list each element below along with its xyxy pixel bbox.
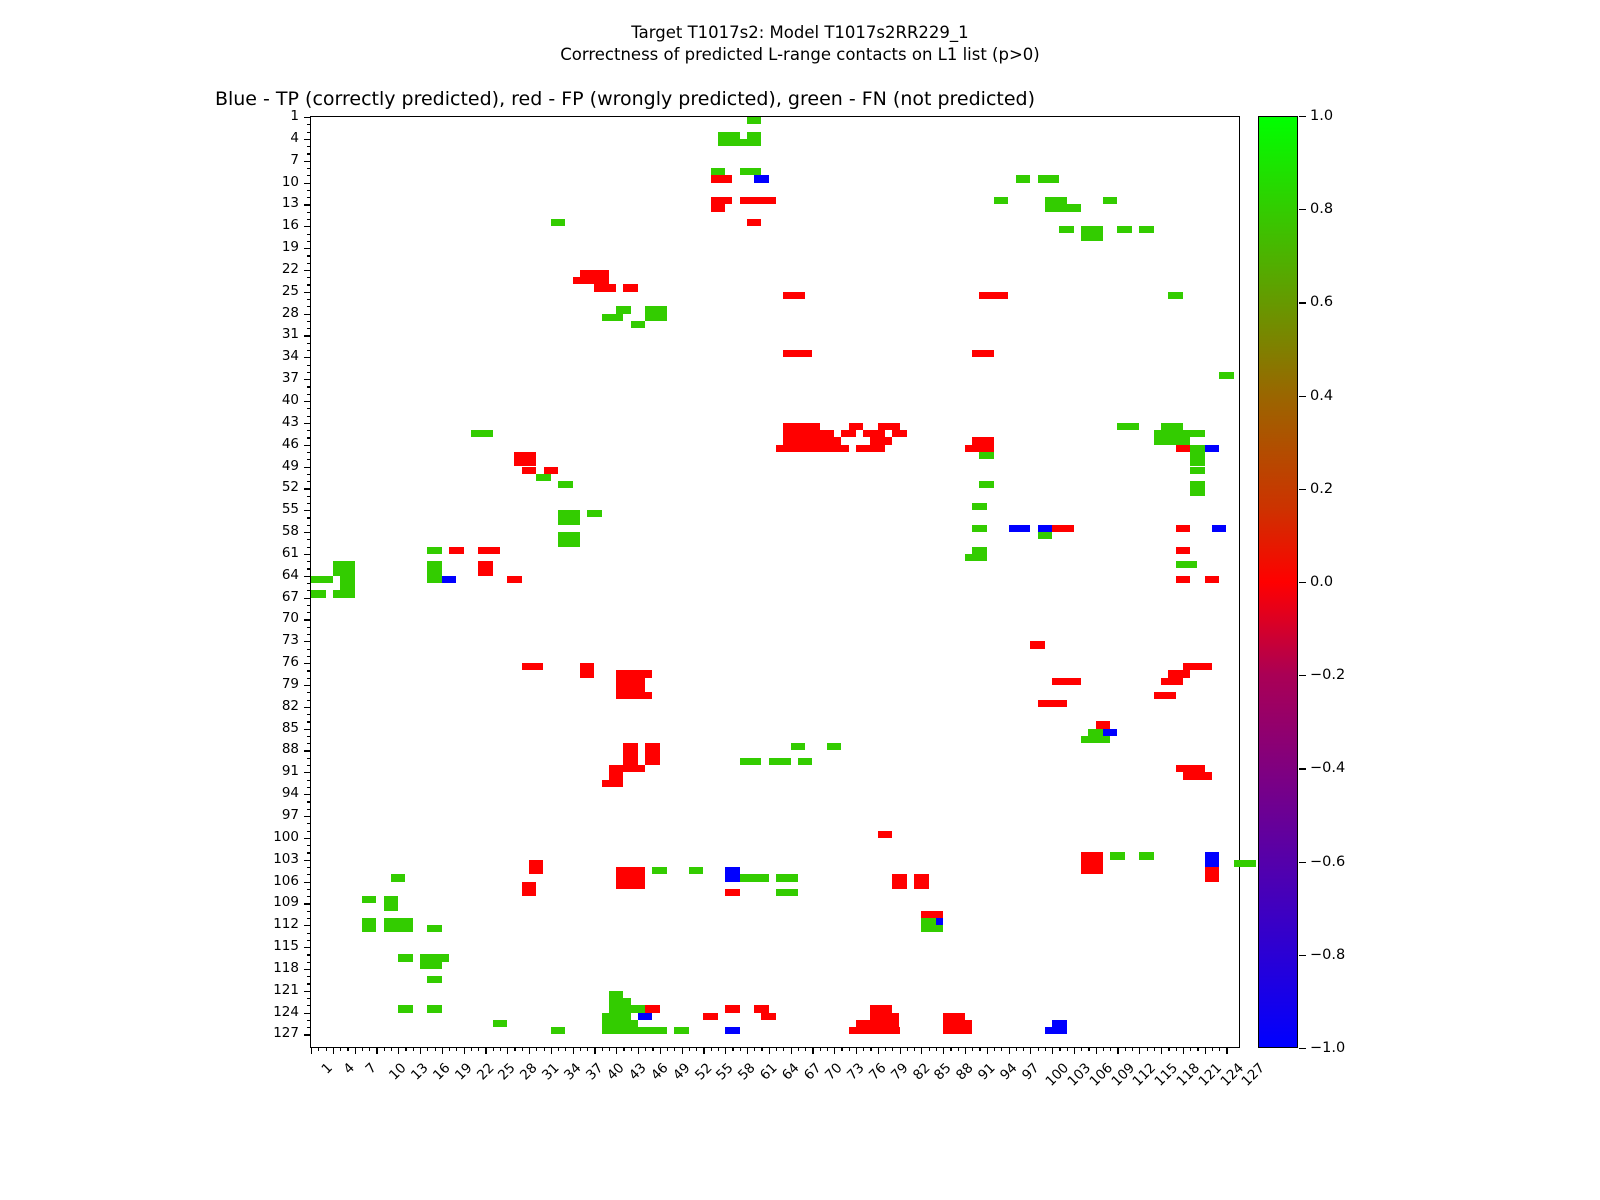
y-tick-minor: [307, 692, 311, 693]
x-axis-label: 73: [844, 1060, 867, 1083]
cell-fn-green: [558, 517, 580, 524]
x-tick-minor: [318, 1047, 319, 1051]
y-tick-minor: [307, 634, 311, 635]
y-tick-major: [304, 532, 311, 533]
x-tick-minor: [631, 1047, 632, 1051]
y-tick-major: [304, 816, 311, 817]
y-axis-label: 4: [0, 130, 299, 146]
cell-fn-green: [609, 991, 624, 998]
x-tick-minor: [1219, 1047, 1220, 1051]
y-tick-major: [304, 357, 311, 358]
cell-fn-green: [1190, 452, 1205, 467]
y-tick-major: [304, 379, 311, 380]
x-tick-minor: [326, 1047, 327, 1051]
x-tick-minor: [623, 1047, 624, 1051]
x-axis-label: 34: [561, 1060, 584, 1083]
cell-fp-red: [623, 758, 638, 765]
y-axis-label: 10: [0, 174, 299, 190]
y-tick-minor: [307, 809, 311, 810]
x-axis-label: 97: [1019, 1060, 1042, 1083]
y-tick-minor: [307, 656, 311, 657]
x-tick-minor: [1154, 1047, 1155, 1051]
x-tick-major: [551, 1047, 552, 1054]
x-axis-label: 43: [626, 1060, 649, 1083]
y-axis-label: 82: [0, 698, 299, 714]
y-tick-minor: [307, 568, 311, 569]
y-tick-major: [304, 335, 311, 336]
cell-fp-red: [914, 874, 929, 889]
y-tick-minor: [307, 146, 311, 147]
cell-fn-green: [558, 510, 580, 517]
cell-fn-green: [362, 918, 377, 933]
cell-fn-green: [427, 561, 442, 576]
cell-fn-green: [536, 474, 551, 481]
y-tick-minor: [307, 787, 311, 788]
x-tick-minor: [1045, 1047, 1046, 1051]
x-tick-major: [529, 1047, 530, 1054]
cell-fp-red: [892, 874, 907, 881]
x-tick-major: [1139, 1047, 1140, 1054]
y-axis-label: 121: [0, 982, 299, 998]
cell-fp-red: [616, 678, 645, 693]
cell-fn-green: [631, 321, 646, 328]
y-tick-minor: [307, 394, 311, 395]
x-axis-label: 7: [362, 1060, 379, 1077]
colorbar-tick-label: 0.8: [1310, 201, 1333, 217]
cell-fn-green: [798, 758, 813, 765]
cell-fp-red: [522, 467, 537, 474]
y-axis-label: 58: [0, 523, 299, 539]
y-tick-major: [304, 991, 311, 992]
y-tick-minor: [307, 627, 311, 628]
x-tick-minor: [1001, 1047, 1002, 1051]
x-tick-minor: [362, 1047, 363, 1051]
cell-fn-green: [1219, 372, 1234, 379]
y-axis-label: 61: [0, 545, 299, 561]
x-tick-major: [1052, 1047, 1053, 1054]
colorbar-tick-label: 1.0: [1310, 108, 1333, 124]
cell-fp-red: [878, 423, 900, 430]
cell-fp-red: [870, 437, 892, 444]
cell-fn-green: [1103, 197, 1118, 204]
y-tick-major: [304, 685, 311, 686]
x-tick-minor: [500, 1047, 501, 1051]
y-axis-label: 7: [0, 152, 299, 168]
x-tick-minor: [369, 1047, 370, 1051]
x-tick-minor: [340, 1047, 341, 1051]
x-axis-label: 88: [953, 1060, 976, 1083]
x-axis-label: 10: [386, 1060, 409, 1083]
y-tick-minor: [307, 168, 311, 169]
y-tick-minor: [307, 896, 311, 897]
x-tick-minor: [1088, 1047, 1089, 1051]
x-tick-minor: [391, 1047, 392, 1051]
cell-fn-green: [979, 481, 994, 488]
y-tick-major: [304, 554, 311, 555]
x-tick-minor: [580, 1047, 581, 1051]
x-tick-major: [834, 1047, 835, 1054]
y-tick-major: [304, 445, 311, 446]
cell-fp-red: [514, 452, 536, 467]
cell-fp-red: [645, 743, 660, 758]
x-tick-minor: [667, 1047, 668, 1051]
colorbar-tick-label: −1.0: [1310, 1040, 1345, 1056]
y-axis-label: 103: [0, 851, 299, 867]
x-tick-minor: [514, 1047, 515, 1051]
y-tick-major: [304, 161, 311, 162]
colorbar-tick: [1299, 1048, 1306, 1049]
x-tick-major: [464, 1047, 465, 1054]
x-tick-major: [900, 1047, 901, 1054]
cell-fp-red: [645, 1005, 660, 1012]
y-axis-label: 28: [0, 305, 299, 321]
cell-fp-red: [1183, 772, 1212, 779]
x-tick-minor: [1023, 1047, 1024, 1051]
x-tick-minor: [1197, 1047, 1198, 1051]
x-tick-minor: [929, 1047, 930, 1051]
x-axis-label: 37: [583, 1060, 606, 1083]
x-axis-label: 40: [604, 1060, 627, 1083]
y-tick-minor: [307, 983, 311, 984]
x-tick-minor: [558, 1047, 559, 1051]
cell-fp-red: [870, 1005, 892, 1012]
x-tick-minor: [1147, 1047, 1148, 1051]
y-axis-label: 76: [0, 654, 299, 670]
cell-fn-green: [602, 1013, 631, 1020]
colorbar-tick: [1299, 768, 1306, 769]
x-tick-minor: [849, 1047, 850, 1051]
cell-fn-green: [1176, 561, 1198, 568]
cell-fn-green: [827, 743, 842, 750]
x-tick-minor: [863, 1047, 864, 1051]
y-tick-major: [304, 838, 311, 839]
cell-tp-blue: [442, 576, 457, 583]
x-tick-major: [943, 1047, 944, 1054]
cell-fn-green: [493, 1020, 508, 1027]
y-tick-minor: [307, 299, 311, 300]
x-tick-minor: [914, 1047, 915, 1051]
cell-fp-red: [645, 758, 660, 765]
y-tick-minor: [307, 474, 311, 475]
y-tick-minor: [307, 590, 311, 591]
y-axis-label: 55: [0, 501, 299, 517]
cell-fp-red: [478, 561, 493, 576]
y-axis-label: 25: [0, 283, 299, 299]
cell-fn-green: [1117, 226, 1132, 233]
y-axis-label: 106: [0, 873, 299, 889]
y-tick-minor: [307, 758, 311, 759]
cell-fn-green: [398, 1005, 413, 1012]
cell-fp-red: [609, 765, 631, 772]
cell-fp-red: [1205, 576, 1220, 583]
y-tick-major: [304, 204, 311, 205]
cell-fn-green: [1045, 197, 1067, 212]
cell-fp-red: [849, 1027, 900, 1034]
colorbar-tick-label: −0.8: [1310, 947, 1345, 963]
colorbar-tick-label: 0.2: [1310, 481, 1333, 497]
x-axis-label: 58: [735, 1060, 758, 1083]
cell-fp-red: [783, 292, 805, 299]
x-tick-major: [573, 1047, 574, 1054]
cell-fp-red: [1038, 700, 1067, 707]
x-tick-minor: [958, 1047, 959, 1051]
cell-fp-red: [1176, 576, 1191, 583]
x-tick-minor: [456, 1047, 457, 1051]
x-tick-major: [747, 1047, 748, 1054]
cell-fp-red: [1052, 525, 1074, 532]
cell-fn-green: [972, 503, 987, 510]
y-tick-minor: [307, 954, 311, 955]
x-tick-major: [333, 1047, 334, 1054]
x-tick-major: [1183, 1047, 1184, 1054]
x-tick-minor: [972, 1047, 973, 1051]
cell-tp-blue: [754, 175, 769, 182]
x-axis-label: 13: [408, 1060, 431, 1083]
cell-fn-green: [609, 998, 631, 1005]
x-tick-minor: [413, 1047, 414, 1051]
contact-map-plot-area: [310, 116, 1240, 1048]
x-axis-label: 46: [648, 1060, 671, 1083]
cell-fp-red: [783, 423, 819, 430]
y-tick-minor: [307, 372, 311, 373]
y-axis-label: 112: [0, 916, 299, 932]
y-tick-minor: [307, 517, 311, 518]
cell-fn-green: [391, 874, 406, 881]
x-tick-minor: [384, 1047, 385, 1051]
y-tick-minor: [307, 714, 311, 715]
x-tick-minor: [732, 1047, 733, 1051]
y-tick-minor: [307, 503, 311, 504]
cell-fp-red: [703, 1013, 718, 1020]
cell-fp-red: [594, 284, 616, 291]
y-tick-minor: [307, 459, 311, 460]
y-axis-label: 124: [0, 1004, 299, 1020]
x-tick-major: [987, 1047, 988, 1054]
cell-fp-red: [573, 277, 609, 284]
x-tick-major: [812, 1047, 813, 1054]
x-tick-major: [682, 1047, 683, 1054]
y-tick-minor: [307, 940, 311, 941]
cell-fn-green: [587, 510, 602, 517]
x-tick-minor: [1125, 1047, 1126, 1051]
x-tick-major: [878, 1047, 879, 1054]
y-tick-major: [304, 860, 311, 861]
cell-tp-blue: [1045, 1027, 1067, 1034]
y-axis-label: 22: [0, 261, 299, 277]
cell-fn-green: [1190, 467, 1205, 474]
y-tick-minor: [307, 583, 311, 584]
cell-fp-red: [783, 437, 841, 444]
y-axis-label: 118: [0, 960, 299, 976]
cell-fn-green: [384, 896, 399, 911]
cell-fp-red: [943, 1013, 965, 1020]
cell-fn-green: [311, 590, 326, 597]
y-tick-major: [304, 903, 311, 904]
y-tick-major: [304, 292, 311, 293]
y-tick-major: [304, 707, 311, 708]
x-tick-major: [660, 1047, 661, 1054]
y-tick-minor: [307, 831, 311, 832]
cell-fp-red: [1176, 445, 1191, 452]
x-tick-major: [769, 1047, 770, 1054]
colorbar-tick: [1299, 582, 1306, 583]
x-tick-major: [791, 1047, 792, 1054]
y-tick-minor: [307, 132, 311, 133]
cell-fp-red: [965, 445, 994, 452]
x-tick-minor: [892, 1047, 893, 1051]
x-tick-minor: [587, 1047, 588, 1051]
x-tick-minor: [994, 1047, 995, 1051]
cell-fn-green: [616, 306, 631, 313]
colorbar-tick-label: −0.2: [1310, 667, 1345, 683]
y-tick-minor: [307, 765, 311, 766]
cell-fp-red: [740, 197, 776, 204]
cell-fp-red: [1183, 663, 1212, 670]
x-tick-minor: [1016, 1047, 1017, 1051]
cell-fn-green: [427, 925, 442, 932]
x-tick-minor: [471, 1047, 472, 1051]
y-axis-label: 64: [0, 567, 299, 583]
y-tick-minor: [307, 649, 311, 650]
cell-fp-red: [849, 423, 864, 430]
cell-fn-green: [740, 758, 762, 765]
y-tick-minor: [307, 845, 311, 846]
y-tick-minor: [307, 321, 311, 322]
contact-map-cells: [311, 117, 1239, 1047]
y-axis-label: 127: [0, 1025, 299, 1041]
x-tick-minor: [841, 1047, 842, 1051]
x-tick-minor: [827, 1047, 828, 1051]
y-axis-label: 115: [0, 938, 299, 954]
y-tick-minor: [307, 255, 311, 256]
x-tick-minor: [1067, 1047, 1068, 1051]
y-tick-minor: [307, 365, 311, 366]
cell-tp-blue: [725, 874, 740, 881]
x-axis-label: 91: [975, 1060, 998, 1083]
cell-fn-green: [420, 954, 449, 961]
cell-fp-red: [1176, 547, 1191, 554]
cell-tp-blue: [1205, 860, 1220, 867]
y-axis-label: 46: [0, 436, 299, 452]
x-tick-minor: [536, 1047, 537, 1051]
x-tick-major: [965, 1047, 966, 1054]
cell-tp-blue: [725, 1027, 740, 1034]
x-tick-minor: [718, 1047, 719, 1051]
cell-fn-green: [427, 576, 442, 583]
cell-fp-red: [616, 867, 645, 874]
chart-title-line1: Target T1017s2: Model T1017s2RR229_1: [0, 22, 1600, 44]
x-tick-minor: [820, 1047, 821, 1051]
x-tick-minor: [689, 1047, 690, 1051]
y-tick-minor: [307, 721, 311, 722]
y-tick-major: [304, 576, 311, 577]
cell-fn-green: [602, 1027, 646, 1034]
x-tick-minor: [674, 1047, 675, 1051]
cell-fp-red: [711, 175, 733, 182]
x-tick-minor: [565, 1047, 566, 1051]
cell-fp-red: [616, 874, 645, 889]
y-tick-major: [304, 314, 311, 315]
cell-fn-green: [791, 743, 806, 750]
colorbar-tick-label: 0.4: [1310, 388, 1333, 404]
cell-fp-red: [522, 663, 544, 670]
cell-fn-green: [427, 547, 442, 554]
cell-fn-green: [427, 976, 442, 983]
cell-fn-green: [689, 867, 704, 874]
cell-fn-green: [1190, 481, 1205, 496]
y-tick-minor: [307, 918, 311, 919]
cell-fn-green: [427, 1005, 442, 1012]
x-tick-minor: [870, 1047, 871, 1051]
x-tick-major: [1205, 1047, 1206, 1054]
x-tick-minor: [602, 1047, 603, 1051]
y-tick-major: [304, 882, 311, 883]
cell-fp-red: [783, 350, 812, 357]
cell-fp-red: [478, 547, 500, 554]
x-tick-major: [442, 1047, 443, 1054]
y-tick-minor: [307, 1005, 311, 1006]
x-axis-label: 16: [430, 1060, 453, 1083]
x-tick-minor: [754, 1047, 755, 1051]
cell-fn-green: [674, 1027, 689, 1034]
y-tick-major: [304, 619, 311, 620]
cell-fn-green: [333, 561, 355, 576]
colorbar-tick: [1299, 955, 1306, 956]
cell-fp-red: [972, 437, 994, 444]
y-tick-major: [304, 1034, 311, 1035]
colorbar-tick: [1299, 396, 1306, 397]
cell-tp-blue: [1103, 729, 1118, 736]
y-tick-minor: [307, 350, 311, 351]
y-tick-major: [304, 510, 311, 511]
y-tick-minor: [307, 678, 311, 679]
y-axis-label: 79: [0, 676, 299, 692]
cell-fp-red: [856, 1020, 900, 1027]
x-tick-minor: [405, 1047, 406, 1051]
y-tick-major: [304, 947, 311, 948]
cell-fn-green: [558, 481, 573, 488]
cell-fp-red: [1161, 678, 1183, 685]
y-tick-minor: [307, 241, 311, 242]
cell-fn-green: [471, 430, 493, 437]
cell-fn-green: [994, 197, 1009, 204]
y-axis-label: 37: [0, 370, 299, 386]
x-tick-minor: [645, 1047, 646, 1051]
x-tick-minor: [478, 1047, 479, 1051]
cell-fp-red: [1168, 670, 1190, 677]
x-tick-minor: [1059, 1047, 1060, 1051]
y-axis-label: 109: [0, 894, 299, 910]
y-tick-minor: [307, 219, 311, 220]
y-tick-major: [304, 226, 311, 227]
cell-fn-green: [718, 139, 762, 146]
cell-fp-red: [507, 576, 522, 583]
cell-fp-red: [878, 831, 893, 838]
cell-tp-blue: [1212, 525, 1227, 532]
cell-fn-green: [972, 525, 987, 532]
cell-fp-red: [747, 219, 762, 226]
y-tick-minor: [307, 911, 311, 912]
x-axis-label: 70: [822, 1060, 845, 1083]
y-axis-label: 13: [0, 195, 299, 211]
cell-fp-red: [1081, 852, 1103, 874]
x-tick-minor: [885, 1047, 886, 1051]
cell-fn-green: [1234, 860, 1256, 867]
cell-fn-green: [1067, 204, 1082, 211]
cell-fn-green: [1081, 736, 1110, 743]
y-tick-minor: [307, 496, 311, 497]
cell-fn-green: [1139, 852, 1154, 859]
